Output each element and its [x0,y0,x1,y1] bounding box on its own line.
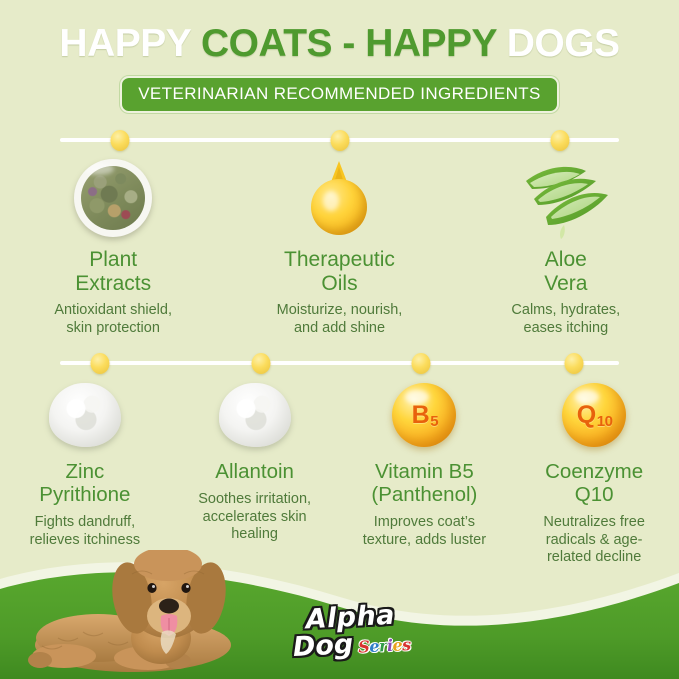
header: HAPPY COATS - HAPPY DOGS VETERINARIAN RE… [0,0,679,113]
card-title: Zinc Pyrithione [6,461,164,507]
oil-drop-icon [232,152,446,244]
card-description: Antioxidant shield, skin protection [6,302,220,337]
connector-dot [91,353,110,374]
herb-bowl-icon [6,152,220,244]
ingredient-card-aloe-vera: Aloe Vera Calms, hydrates, eases itching [453,152,679,337]
vitamin-sphere-icon: B5 [346,373,504,457]
title-segment-0: HAPPY [59,22,190,65]
page-title: HAPPY COATS - HAPPY DOGS [0,24,679,63]
card-description: Moisturize, nourish, and add shine [232,302,446,337]
ingredient-row-1: Plant Extracts Antioxidant shield, skin … [0,152,679,337]
card-description: Soothes irritation, accelerates skin hea… [176,491,334,544]
card-title: Plant Extracts [6,248,220,295]
connector-rail-row2 [60,361,619,365]
alpha-dog-series-logo: Alpha Dog Series [281,601,422,660]
ingredient-card-therapeutic-oils: Therapeutic Oils Moisturize, nourish, an… [226,152,452,337]
card-title: Allantoin [176,461,334,484]
title-segment-1: COATS - HAPPY [201,22,496,65]
connector-dot [252,353,271,374]
sphere-label: B [412,401,430,429]
aloe-vera-icon [459,152,673,244]
logo-line-dog: Dog [292,631,354,660]
footer-wave: Alpha Dog Series [0,539,679,679]
golden-doodle-dog-image [28,550,293,675]
sphere-label: Q [577,401,596,429]
card-title: Coenzyme Q10 [515,461,673,507]
ingredient-card-vitamin-b5: B5 Vitamin B5 (Panthenol) Improves coat’… [340,373,510,567]
ingredient-card-allantoin: Allantoin Soothes irritation, accelerate… [170,373,340,567]
white-powder-icon [176,373,334,457]
ingredient-card-zinc-pyrithione: Zinc Pyrithione Fights dandruff, relieve… [0,373,170,567]
card-title: Vitamin B5 (Panthenol) [346,461,504,507]
logo-series-word: Series [358,636,411,655]
connector-dot [551,130,570,151]
ingredient-row-2: Zinc Pyrithione Fights dandruff, relieve… [0,373,679,567]
title-segment-2: DOGS [507,22,620,65]
connector-dot [412,353,431,374]
connector-dot [565,353,584,374]
veterinarian-badge: VETERINARIAN RECOMMENDED INGREDIENTS [120,76,559,113]
infographic-root: HAPPY COATS - HAPPY DOGS VETERINARIAN RE… [0,0,679,679]
sphere-sublabel: 5 [430,413,438,430]
card-title: Aloe Vera [459,248,673,295]
badge-wrap: VETERINARIAN RECOMMENDED INGREDIENTS [0,76,679,113]
white-powder-icon [6,373,164,457]
ingredient-card-coenzyme-q10: Q10 Coenzyme Q10 Neutralizes free radica… [509,373,679,567]
ingredient-card-plant-extracts: Plant Extracts Antioxidant shield, skin … [0,152,226,337]
sphere-sublabel: 10 [597,413,613,430]
connector-dot [111,130,130,151]
card-description: Calms, hydrates, eases itching [459,302,673,337]
card-title: Therapeutic Oils [232,248,446,295]
connector-dot [331,130,350,151]
vitamin-sphere-icon: Q10 [515,373,673,457]
